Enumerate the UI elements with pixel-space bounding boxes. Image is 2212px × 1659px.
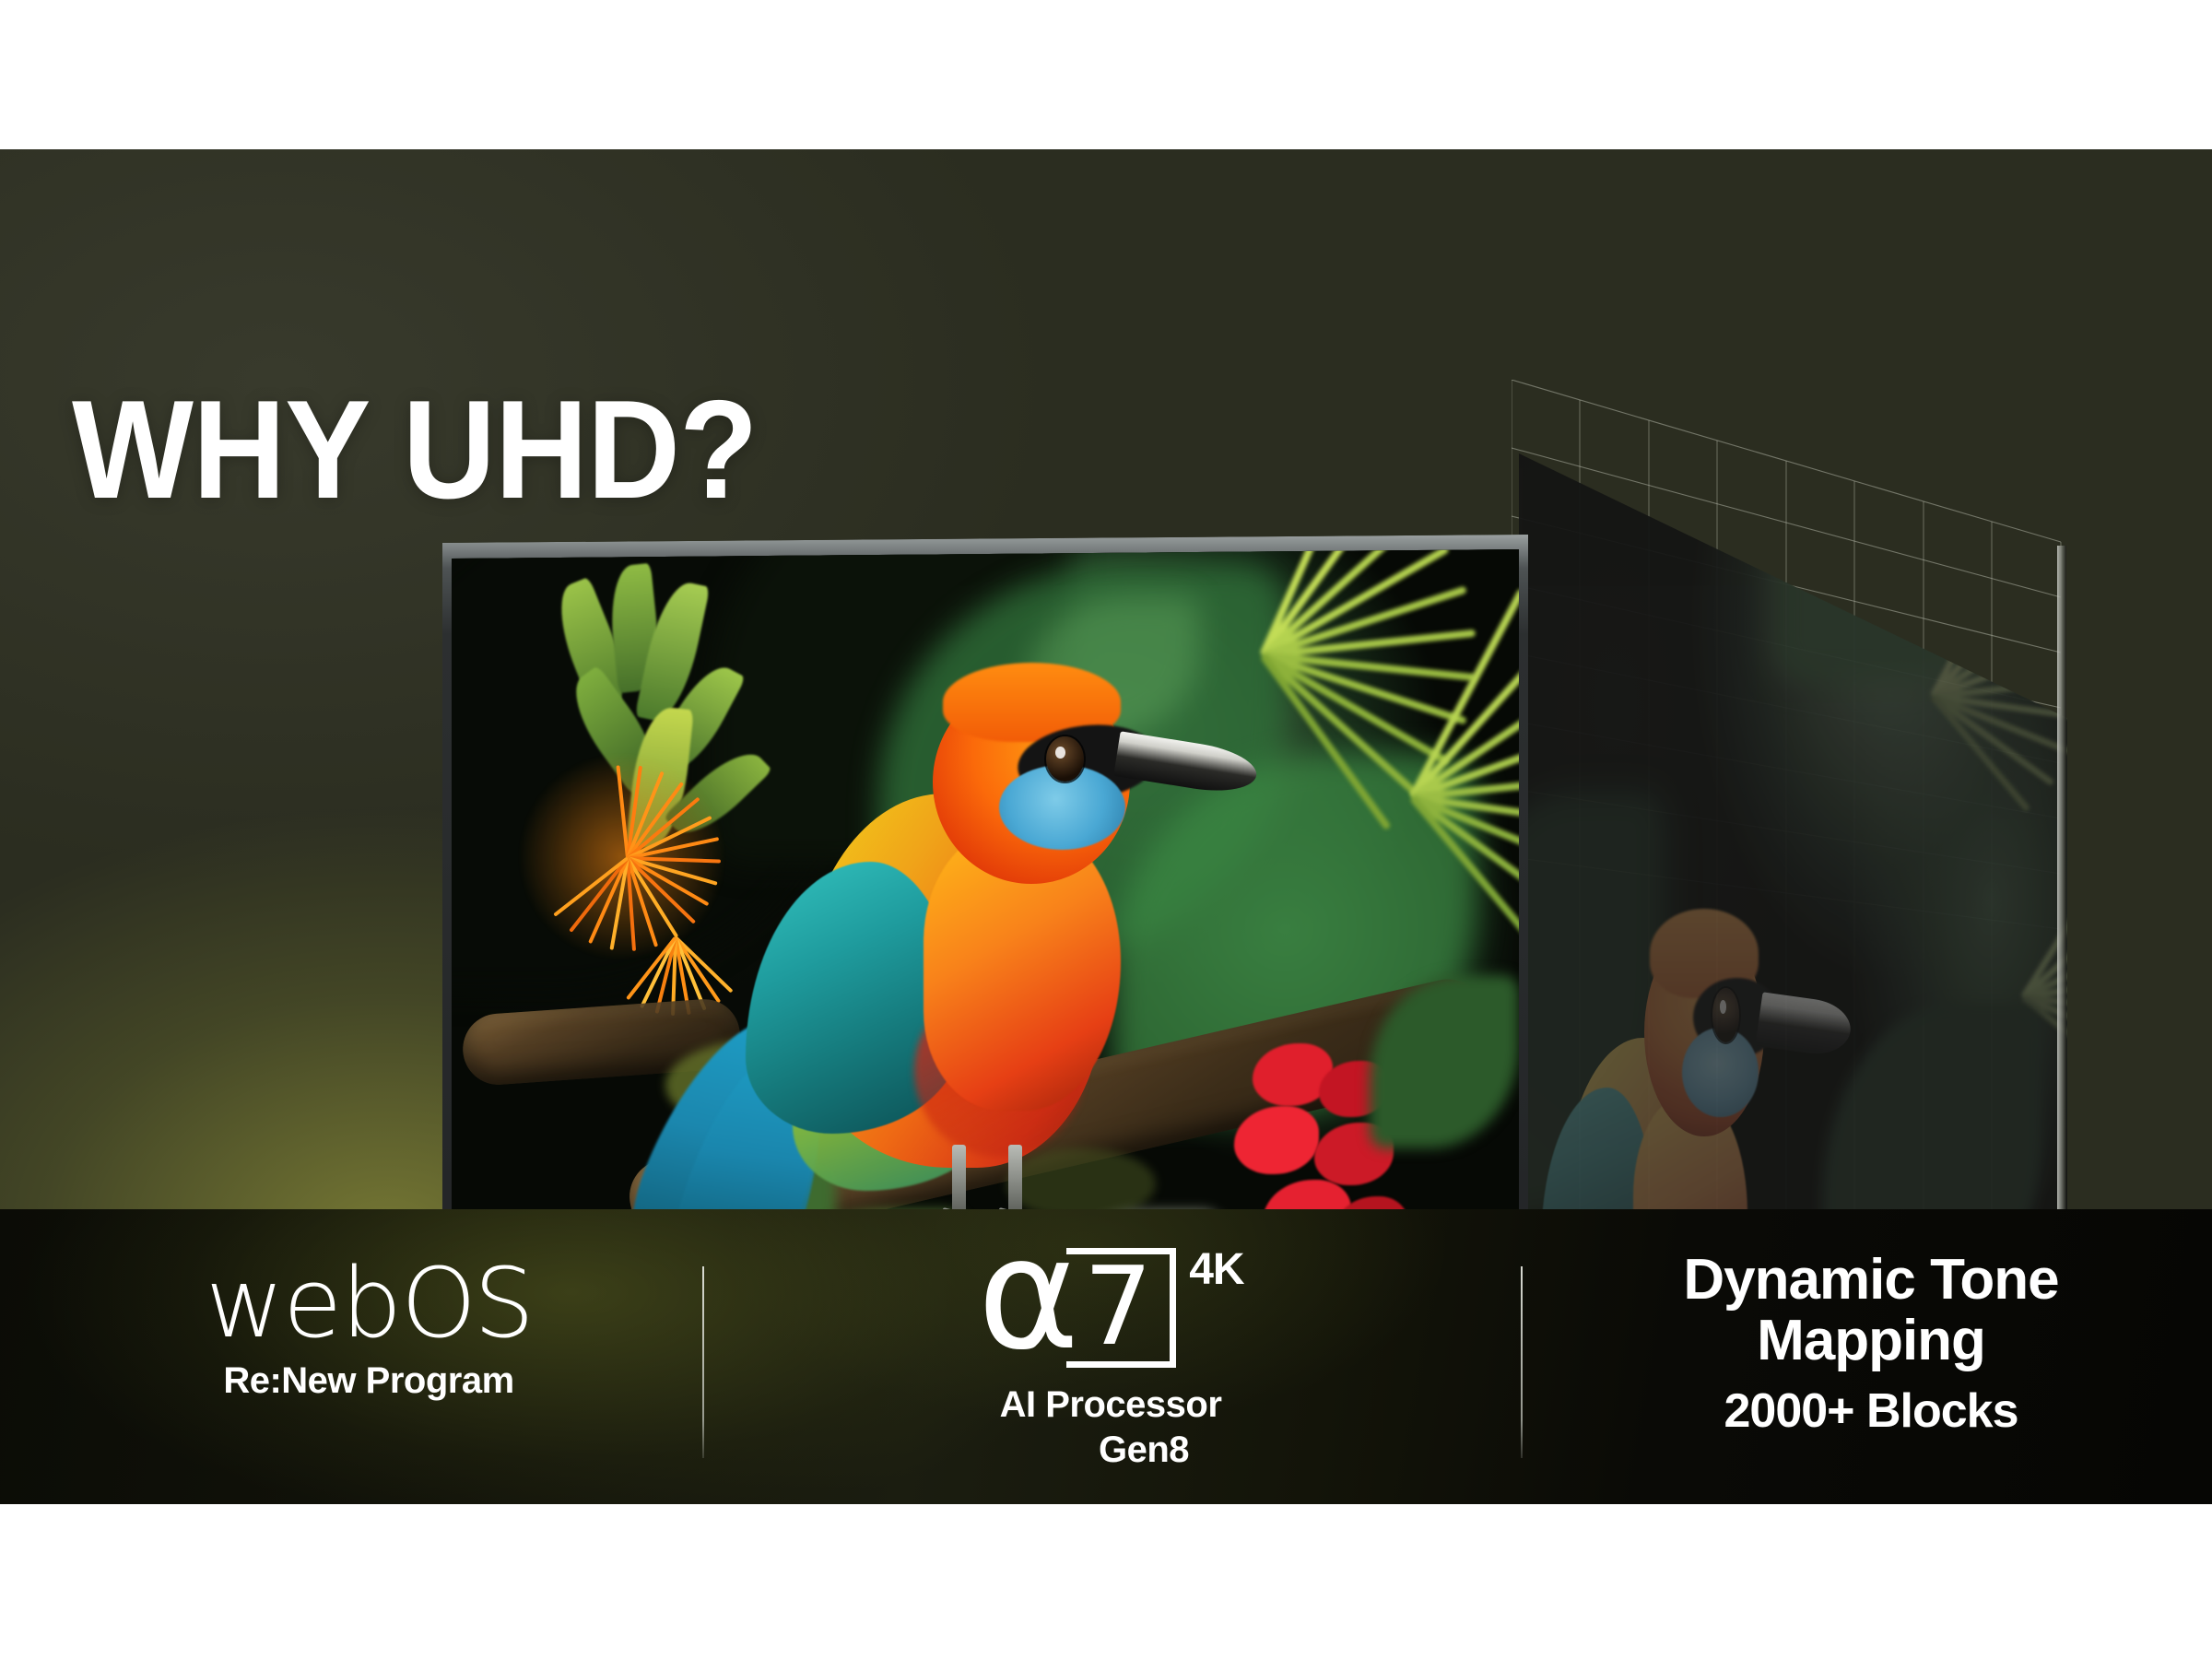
uhd-television — [442, 535, 1528, 1209]
webos-wordmark-suffix: OS — [401, 1247, 532, 1359]
dtm-title-line1: Dynamic Tone — [1567, 1250, 2175, 1311]
dtm-title: Dynamic Tone Mapping — [1567, 1250, 2175, 1371]
generation-badge: 7 — [1066, 1248, 1176, 1368]
alpha7-logo: α 7 4K — [737, 1242, 1484, 1382]
feature-divider — [1521, 1266, 1523, 1458]
feature-webos: webOS Re:New Program — [83, 1255, 654, 1402]
hero-section: WHY UHD? — [0, 149, 2212, 1209]
alpha-glyph-icon: α — [977, 1230, 1070, 1359]
webos-wordmark-prefix: web — [206, 1247, 401, 1359]
slide-canvas: WHY UHD? — [0, 0, 2212, 1659]
feature-bar: webOS Re:New Program α 7 4K AI Processor… — [0, 1209, 2212, 1504]
feature-divider — [702, 1266, 704, 1458]
feature-dynamic-tone-mapping: Dynamic Tone Mapping 2000+ Blocks — [1567, 1250, 2175, 1439]
tv-screen — [452, 549, 1519, 1209]
ai-processor-label: AI Processor — [737, 1384, 1484, 1426]
tv-scene — [452, 549, 1519, 1209]
feature-ai-processor: α 7 4K AI Processor Gen8 — [737, 1242, 1484, 1471]
ghost-panel-edge — [2057, 546, 2066, 1209]
resolution-badge: 4K — [1189, 1244, 1243, 1295]
dtm-title-line2: Mapping — [1567, 1311, 2175, 1371]
generation-digit: 7 — [1066, 1253, 1170, 1359]
ai-processor-generation: Gen8 — [804, 1430, 1484, 1471]
bird-subject — [708, 691, 1178, 1209]
webos-logo: webOS — [83, 1255, 654, 1351]
dtm-subtitle: 2000+ Blocks — [1567, 1383, 2175, 1439]
page-title: WHY UHD? — [72, 380, 758, 520]
webos-subtitle: Re:New Program — [83, 1360, 654, 1402]
